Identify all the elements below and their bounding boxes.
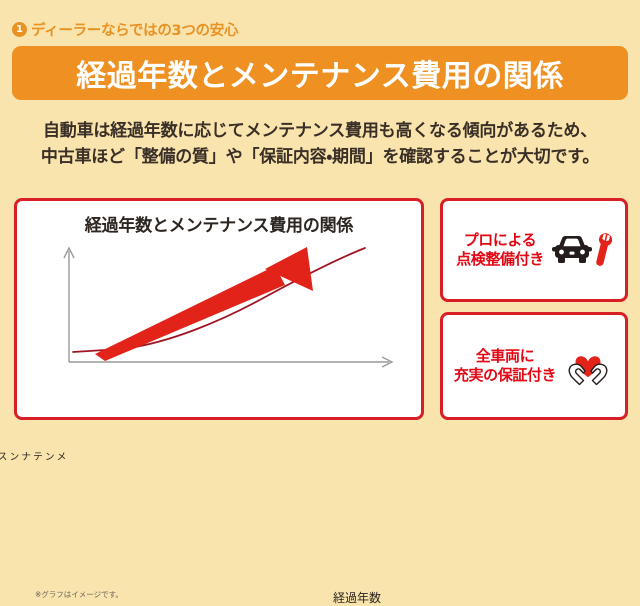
chart-x-axis-label: 経過年数 [333,589,381,606]
feature-warranty-text: 全車両に 充実の保証付き [454,347,556,385]
chart-trend-arrow [95,247,313,361]
circled-number-one-icon: 1 [12,22,27,37]
chart-note: ※グラフはイメージです。 [35,589,123,600]
feature-inspection-icons [550,231,612,269]
eyebrow-heading: 1 ディーラーならではの3つの安心 [12,19,238,40]
lead-paragraph: 自動車は経過年数に応じてメンテナンス費用も高くなる傾向があるため、 中古車ほど「… [0,118,640,171]
feature-warranty-line-2: 充実の保証付き [454,366,556,385]
maintenance-cost-chart [17,239,421,389]
car-front-icon [550,233,594,267]
chart-title: 経過年数とメンテナンス費用の関係 [17,211,421,236]
feature-panel-inspection: プロによる 点検整備付き [440,198,628,302]
feature-inspection-line-1: プロによる [456,231,544,250]
chart-y-axis-label: メンテナンス費用 [51,451,65,462]
feature-inspection-text: プロによる 点検整備付き [456,231,544,269]
chart-panel: 経過年数とメンテナンス費用の関係 メンテナンス費用 経過年数 ※グラフはイメージ… [14,198,424,420]
lead-line-2: 中古車ほど「整備の質」や「保証内容・期間」を確認することが大切です。 [0,144,640,170]
feature-warranty-line-1: 全車両に [454,347,556,366]
eyebrow-label: ディーラーならではの3つの安心 [31,19,238,40]
feature-warranty-icons [562,344,614,388]
hands-holding-heart-icon [562,344,614,388]
wrench-icon [594,231,612,269]
section-banner: 経過年数とメンテナンス費用の関係 [12,46,628,100]
banner-title: 経過年数とメンテナンス費用の関係 [76,51,563,95]
feature-inspection-line-2: 点検整備付き [456,250,544,269]
lead-line-1: 自動車は経過年数に応じてメンテナンス費用も高くなる傾向があるため、 [0,118,640,144]
feature-panel-warranty: 全車両に 充実の保証付き [440,312,628,420]
